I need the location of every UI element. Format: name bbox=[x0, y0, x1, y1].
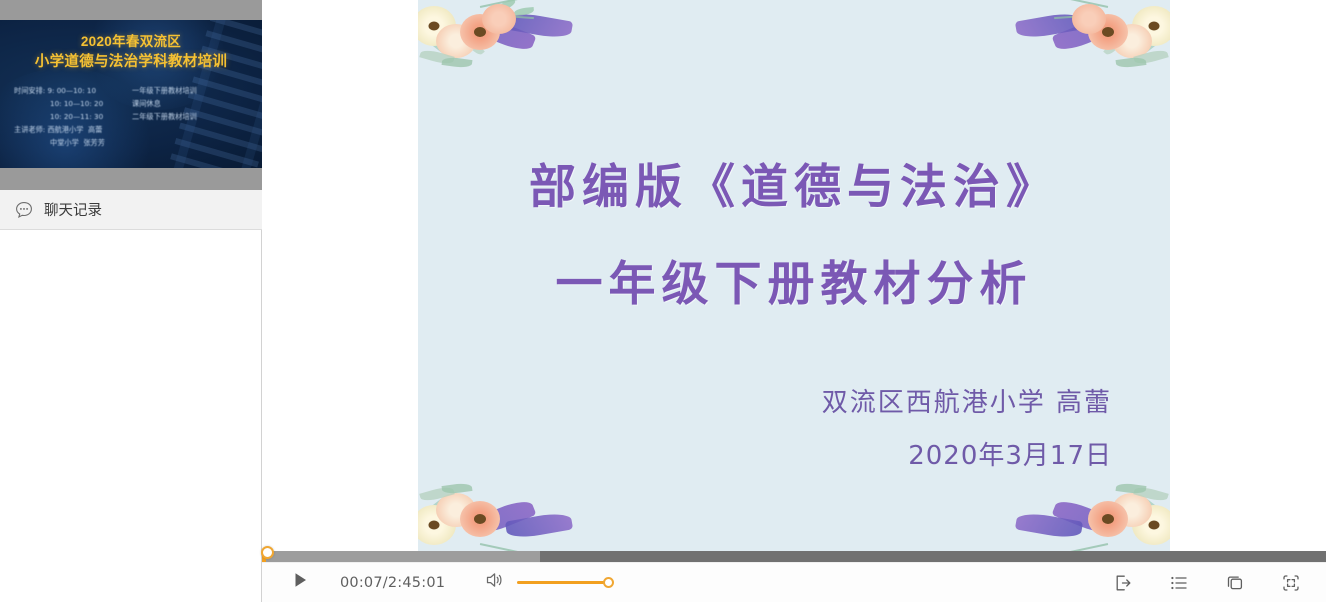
sidebar-divider-bar bbox=[0, 168, 262, 190]
schedule-row: 10: 10—10: 20 课间休息 bbox=[14, 97, 252, 110]
schedule-time: 10: 20—11: 30 bbox=[14, 110, 132, 123]
presenter-row: 主讲老师: 西航港小学 高蕾 bbox=[14, 123, 252, 136]
progress-bar[interactable] bbox=[262, 551, 1326, 562]
schedule-time: 时间安排: 9: 00—10: 10 bbox=[14, 84, 132, 97]
floral-decoration-top-left bbox=[418, 0, 608, 105]
progress-handle[interactable] bbox=[261, 546, 274, 559]
player-controls: 00:07/2:45:01 bbox=[262, 562, 1326, 602]
schedule-row: 时间安排: 9: 00—10: 10 一年级下册教材培训 bbox=[14, 84, 252, 97]
video-stage[interactable]: 部编版《道德与法治》 一年级下册教材分析 双流区西航港小学 高蕾 2020年3月… bbox=[262, 0, 1326, 551]
volume-icon[interactable] bbox=[483, 569, 505, 596]
schedule-time: 10: 10—10: 20 bbox=[14, 97, 132, 110]
floral-decoration-top-right bbox=[980, 0, 1170, 105]
time-display: 00:07/2:45:01 bbox=[340, 575, 445, 591]
volume-control[interactable] bbox=[483, 569, 609, 596]
thumbnail-title-line1: 2020年春双流区 bbox=[0, 32, 262, 52]
floral-decoration-bottom-left bbox=[418, 446, 608, 551]
fullscreen-icon[interactable] bbox=[1280, 572, 1302, 594]
sidebar-item-chat-record[interactable]: 聊天记录 bbox=[0, 190, 262, 230]
chat-bubble-icon bbox=[14, 200, 34, 220]
slide-title-line1: 部编版《道德与法治》 bbox=[418, 148, 1170, 217]
progress-buffered bbox=[262, 551, 540, 562]
slide-date: 2020年3月17日 bbox=[908, 435, 1112, 472]
slide-canvas: 部编版《道德与法治》 一年级下册教材分析 双流区西航港小学 高蕾 2020年3月… bbox=[418, 0, 1170, 551]
play-button[interactable] bbox=[290, 570, 310, 595]
volume-slider[interactable] bbox=[517, 577, 609, 588]
schedule-row: 10: 20—11: 30 二年级下册教材培训 bbox=[14, 110, 252, 123]
right-controls bbox=[1112, 572, 1302, 594]
picture-in-picture-icon[interactable] bbox=[1224, 572, 1246, 594]
presenter-line-1: 主讲老师: 西航港小学 高蕾 bbox=[14, 123, 102, 136]
chat-record-label: 聊天记录 bbox=[44, 199, 102, 220]
schedule-topic: 课间休息 bbox=[132, 97, 161, 110]
thumbnail-title-line2: 小学道德与法治学科教材培训 bbox=[0, 52, 262, 72]
schedule-topic: 一年级下册教材培训 bbox=[132, 84, 197, 97]
sidebar-content-area bbox=[0, 231, 261, 602]
video-player-window: 2020年春双流区 小学道德与法治学科教材培训 时间安排: 9: 00—10: … bbox=[0, 0, 1326, 602]
schedule-topic: 二年级下册教材培训 bbox=[132, 110, 197, 123]
playlist-icon[interactable] bbox=[1168, 572, 1190, 594]
slide-title-line2: 一年级下册教材分析 bbox=[418, 245, 1170, 314]
presenter-line-2: 中堂小学 张芳芳 bbox=[50, 136, 105, 149]
sidebar: 2020年春双流区 小学道德与法治学科教材培训 时间安排: 9: 00—10: … bbox=[0, 0, 262, 602]
sidebar-top-bar bbox=[0, 0, 262, 20]
exit-icon[interactable] bbox=[1112, 572, 1134, 594]
thumbnail-schedule: 时间安排: 9: 00—10: 10 一年级下册教材培训 10: 10—10: … bbox=[14, 84, 252, 149]
play-icon bbox=[290, 570, 310, 595]
volume-handle[interactable] bbox=[603, 577, 614, 588]
volume-track bbox=[517, 581, 609, 585]
slide-author: 双流区西航港小学 高蕾 bbox=[822, 382, 1112, 419]
thumbnail-title: 2020年春双流区 小学道德与法治学科教材培训 bbox=[0, 32, 262, 72]
presenter-row: 中堂小学 张芳芳 bbox=[14, 136, 252, 149]
video-thumbnail[interactable]: 2020年春双流区 小学道德与法治学科教材培训 时间安排: 9: 00—10: … bbox=[0, 20, 262, 168]
